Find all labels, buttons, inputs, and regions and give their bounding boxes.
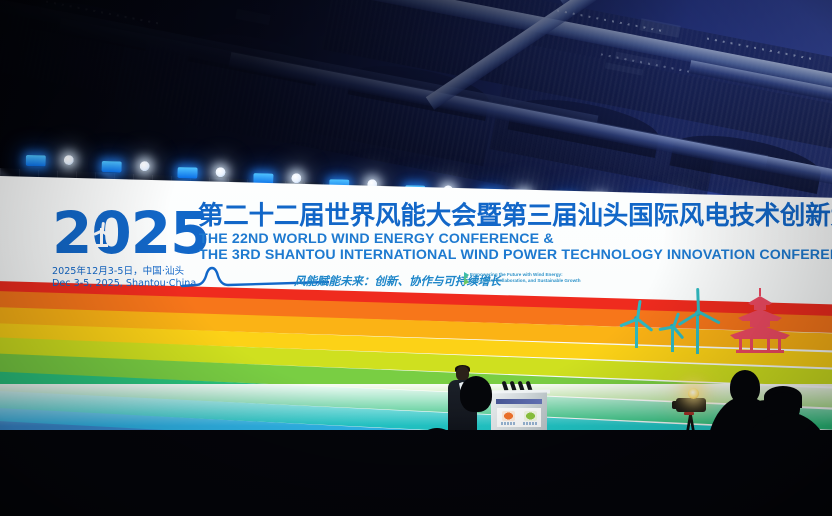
lectern-logo-left-caption	[501, 422, 516, 425]
lectern-logo-right	[524, 411, 537, 421]
pagoda-graphic	[730, 290, 790, 352]
lectern-banner	[496, 399, 542, 404]
wind-turbine-graphic	[674, 294, 722, 354]
wind-turbine-graphic	[618, 304, 658, 348]
tagline-english-line2: Innovation, Collaboration, and Sustainab…	[470, 278, 581, 284]
event-date-chinese: 2025年12月3-5日，中国·汕头	[52, 266, 184, 278]
event-date-english: Dec 3-5, 2025, Shantou·China	[52, 278, 196, 290]
lectern-logo-right-caption	[523, 422, 538, 425]
conference-title-chinese: 第二十二届世界风能大会暨第三届汕头国际风电技术创新大会	[198, 202, 832, 230]
conference-photo-scene: 2025 第二十二届世界风能大会暨第三届汕头国际风电技术创新大会 THE 22N…	[0, 0, 832, 516]
camera-light-icon	[688, 388, 699, 399]
front-row-shadow	[0, 430, 832, 516]
conference-title-english-line2: THE 3RD SHANTOU INTERNATIONAL WIND POWER…	[199, 247, 832, 263]
lectern-logo-left	[502, 411, 515, 421]
conference-title-english-line1: THE 22ND WORLD WIND ENERGY CONFERENCE &	[199, 231, 554, 247]
year-logo: 2025	[52, 204, 209, 262]
wind-turbine-in-zero-icon	[92, 222, 111, 246]
